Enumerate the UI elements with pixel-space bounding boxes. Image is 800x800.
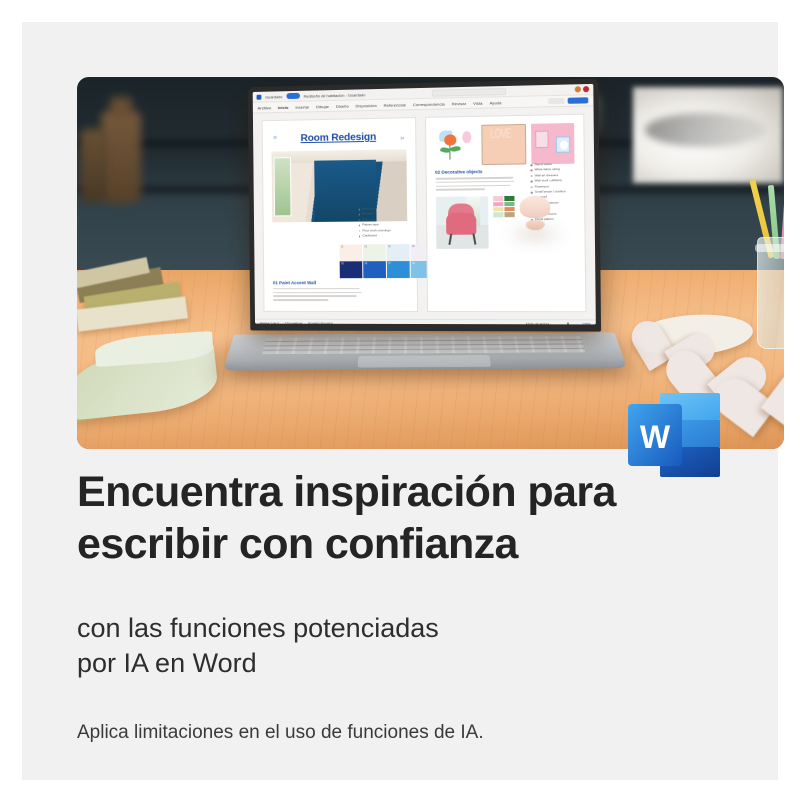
trackpad	[358, 355, 491, 367]
palette-swatch	[493, 212, 503, 217]
swatch-label: 08	[412, 263, 415, 265]
page-number-left: 20	[273, 136, 276, 140]
word-status-bar[interactable]: Página 1 de 2 174 palabras Español (Espa…	[255, 319, 596, 325]
swatch-row-top: 01 02 03 04	[339, 244, 434, 261]
headline-line-1: Encuentra inspiración para	[77, 466, 767, 518]
palette-swatch	[504, 196, 514, 201]
subhead-line-2: por IA en Word	[77, 646, 677, 681]
laptop-screen: Guardado Rediseño de habitación - Guarda…	[253, 84, 596, 325]
swatch-label: 06	[365, 263, 368, 265]
tab-diseno[interactable]: Diseño	[336, 103, 349, 108]
pink-armchair-photo	[435, 196, 488, 249]
tab-inicio[interactable]: Inicio	[278, 104, 289, 109]
tab-ayuda[interactable]: Ayuda	[490, 100, 502, 105]
laptop-base	[223, 333, 627, 371]
subhead-line-1: con las funciones potenciadas	[77, 611, 677, 646]
laptop-lid: Guardado Rediseño de habitación - Guarda…	[248, 79, 601, 332]
section-body-02	[435, 177, 516, 191]
zoom-slider[interactable]	[553, 324, 578, 325]
word-count: 174 palabras	[285, 322, 303, 325]
document-page-right[interactable]: LOVE 02 Decorative objects	[425, 114, 587, 313]
section-body-01	[273, 288, 363, 301]
swatch-label: 07	[388, 263, 391, 265]
page-title: Encuentra inspiración para escribir con …	[77, 466, 767, 570]
pink-frame-art-icon	[531, 123, 574, 164]
paint-swatches: 01 02 03 04 05 06 07 0	[339, 244, 434, 278]
autosave-label: Guardado	[265, 94, 282, 99]
palette-swatch	[493, 196, 503, 201]
swatch-label: 04	[412, 246, 415, 248]
keyboard	[262, 336, 585, 354]
page-indicator: Página 1 de 2	[260, 322, 279, 325]
page-number-right: 24	[400, 136, 404, 140]
color-swatch: 02	[363, 244, 386, 261]
language-indicator[interactable]: Español (España)	[308, 322, 333, 325]
color-swatch: 03	[387, 244, 410, 261]
avatar[interactable]	[575, 86, 581, 92]
paper-heart-cutout	[727, 372, 784, 441]
tulip-illustration-icon	[435, 125, 477, 166]
mushroom-lamp-photo	[519, 196, 550, 237]
tab-dibujar[interactable]: Dibujar	[316, 104, 329, 109]
palette-swatch	[504, 212, 514, 217]
status-right-group[interactable]: Modo de lectura 100%	[526, 322, 591, 324]
palette-swatch	[493, 202, 503, 207]
search-input[interactable]	[432, 87, 507, 96]
promo-page: Guardado Rediseño de habitación - Guarda…	[0, 0, 800, 800]
tab-disposicion[interactable]: Disposición	[356, 102, 377, 107]
swatch-label: 02	[364, 246, 367, 248]
promo-card: Guardado Rediseño de habitación - Guarda…	[22, 22, 778, 780]
document-title: Room Redesign	[281, 131, 396, 144]
color-swatch: 07	[387, 261, 410, 278]
share-button[interactable]	[568, 97, 589, 104]
zoom-level[interactable]: 100%	[582, 322, 590, 324]
tab-referencias[interactable]: Referencias	[384, 102, 406, 107]
headline-line-2: escribir con confianza	[77, 518, 767, 570]
palette-swatch	[493, 207, 503, 212]
ribbon-actions[interactable]	[548, 97, 588, 104]
materials-list-left: Blue paint Brushes Paint roller Painter …	[358, 206, 410, 239]
window	[274, 157, 292, 216]
palette-swatch	[504, 207, 514, 212]
love-letters-icon: LOVE	[482, 124, 527, 165]
jar-rim	[755, 244, 784, 252]
swatch-label: 05	[341, 263, 344, 265]
color-palette-grid	[493, 196, 515, 217]
swatch-label: 01	[341, 246, 344, 248]
laptop: Guardado Rediseño de habitación - Guarda…	[245, 83, 607, 413]
background-jar	[80, 129, 106, 203]
color-swatch: 06	[363, 261, 386, 278]
document-filename: Rediseño de habitación - Guardado	[304, 92, 366, 98]
word-logo-letter: W	[640, 419, 671, 455]
section-heading-01: 01 Paint Accent Wall	[273, 280, 363, 285]
tab-insertar[interactable]: Insertar	[295, 104, 309, 109]
glass-jar	[757, 237, 784, 349]
document-page-left[interactable]: 20 24 Room Redesign Blue paint	[262, 117, 418, 312]
tab-revisar[interactable]: Revisar	[452, 100, 466, 105]
background-artwork	[633, 87, 783, 183]
presence-avatars[interactable]	[575, 86, 590, 92]
word-app-icon	[257, 94, 262, 99]
tab-correspondencia[interactable]: Correspondencia	[413, 101, 445, 107]
document-canvas[interactable]: 20 24 Room Redesign Blue paint	[253, 106, 596, 319]
comments-button[interactable]	[548, 98, 564, 104]
color-swatch: 01	[339, 244, 362, 261]
avatar[interactable]	[583, 86, 589, 92]
decorative-objects-row: LOVE	[435, 123, 575, 166]
palette-swatch	[504, 201, 514, 206]
display-mode-label[interactable]: Modo de lectura	[526, 322, 549, 324]
autosave-toggle[interactable]	[286, 93, 300, 99]
disclaimer-text: Aplica limitaciones en el uso de funcion…	[77, 720, 727, 746]
tab-archivo[interactable]: Archivo	[258, 105, 272, 110]
page-subtitle: con las funciones potenciadas por IA en …	[77, 611, 677, 681]
background-jar	[101, 111, 141, 203]
swatch-label: 03	[388, 246, 391, 248]
list-item: Cardboard	[358, 233, 409, 239]
tab-vista[interactable]: Vista	[473, 100, 482, 105]
